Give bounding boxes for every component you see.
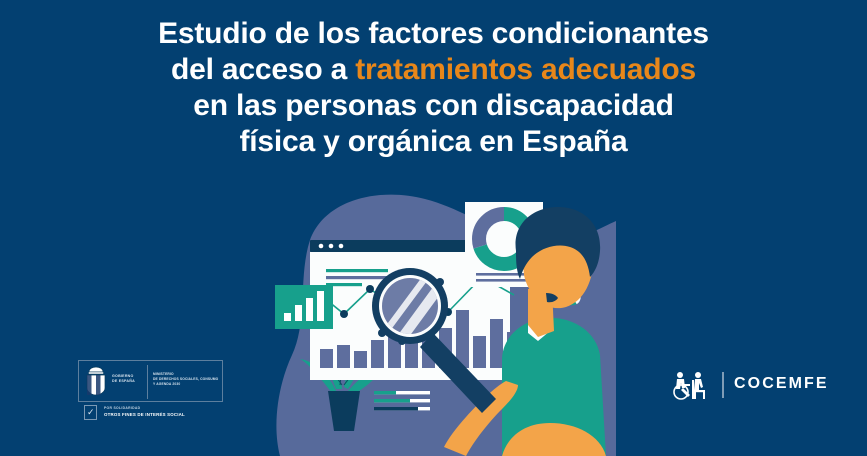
solidarity-line-1: POR SOLIDARIDAD bbox=[104, 406, 140, 410]
title-line-2: del acceso a tratamientos adecuados bbox=[0, 52, 867, 88]
government-logo: GOBIERNO DE ESPAÑA MINISTERIO DE DERECHO… bbox=[78, 360, 223, 422]
solidarity-line-2: OTROS FINES DE INTERÉS SOCIAL bbox=[104, 412, 185, 417]
cocemfe-wordmark: COCEMFE bbox=[734, 375, 829, 393]
title-line-4: física y orgánica en España bbox=[0, 124, 867, 160]
banner-root: Estudio de los factores condicionantes d… bbox=[0, 0, 867, 456]
title-line-3: en las personas con discapacidad bbox=[0, 88, 867, 124]
check-glyph: ✓ bbox=[87, 406, 95, 419]
title-line-2-plain: del acceso a bbox=[171, 53, 355, 86]
title-line-2-accent: tratamientos adecuados bbox=[355, 53, 696, 86]
window-dot bbox=[339, 244, 344, 249]
gov-logo-ministry: MINISTERIO DE DERECHOS SOCIALES, CONSUMO… bbox=[153, 372, 219, 387]
gov-ministry-line-3: Y AGENDA 2030 bbox=[153, 382, 219, 387]
gov-name-line-2: DE ESPAÑA bbox=[112, 379, 146, 384]
gov-logo-name: GOBIERNO DE ESPAÑA bbox=[112, 374, 146, 384]
gov-logo-divider bbox=[147, 365, 148, 399]
wheelchair-people-icon bbox=[672, 370, 714, 400]
data-analysis-illustration bbox=[270, 185, 620, 456]
checkbox-icon: ✓ bbox=[84, 405, 97, 420]
gov-logo-box: GOBIERNO DE ESPAÑA MINISTERIO DE DERECHO… bbox=[78, 360, 223, 402]
spain-coat-of-arms-icon bbox=[85, 366, 107, 396]
window-dot bbox=[319, 244, 324, 249]
header-line bbox=[326, 269, 388, 272]
title-line-1: Estudio de los factores condicionantes bbox=[0, 16, 867, 52]
page-title: Estudio de los factores condicionantes d… bbox=[0, 16, 867, 160]
window-dot bbox=[329, 244, 334, 249]
solidarity-mark: ✓ POR SOLIDARIDAD OTROS FINES DE INTERÉS… bbox=[78, 404, 223, 422]
cocemfe-logo: COCEMFE bbox=[672, 370, 812, 402]
small-bar-card bbox=[275, 285, 333, 329]
cocemfe-divider bbox=[722, 372, 724, 398]
progress-lines bbox=[374, 391, 430, 410]
